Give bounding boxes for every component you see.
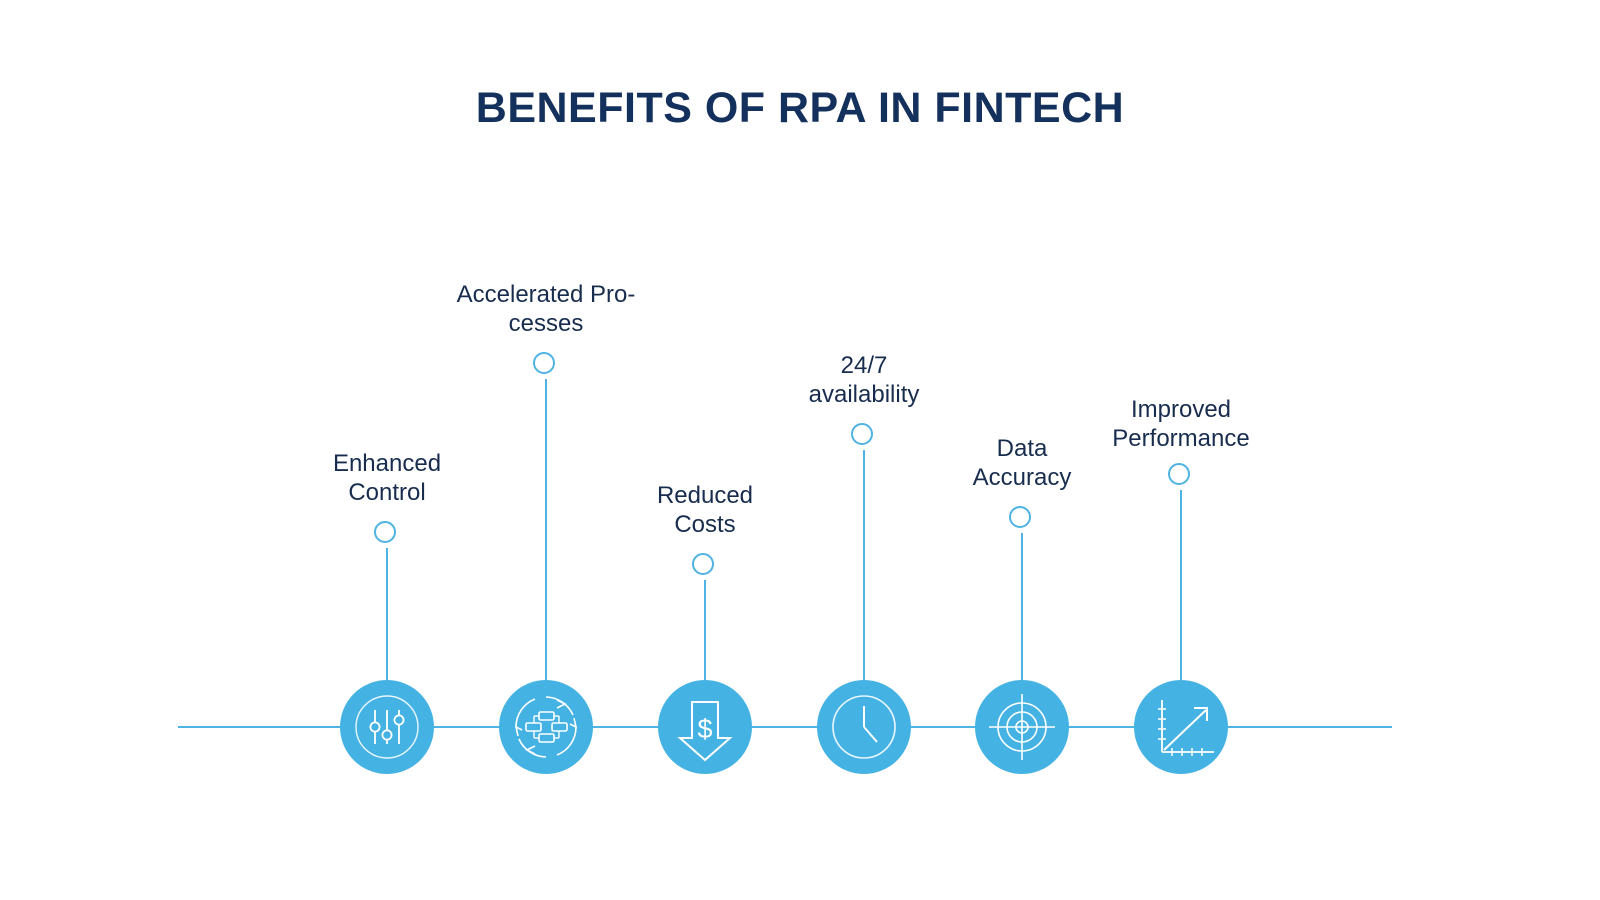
node-circle-availability[interactable]	[817, 680, 911, 774]
svg-text:$: $	[697, 714, 712, 744]
node-label-accelerated-processes: Accelerated Pro- cesses	[406, 280, 686, 339]
node-circle-accelerated-processes[interactable]	[499, 680, 593, 774]
growth-chart-icon	[1134, 680, 1228, 774]
node-circle-data-accuracy[interactable]	[975, 680, 1069, 774]
sliders-icon	[340, 680, 434, 774]
node-marker-accelerated-processes[interactable]	[533, 352, 555, 374]
node-stem-data-accuracy	[1021, 533, 1023, 682]
node-stem-reduced-costs	[704, 580, 706, 682]
node-circle-enhanced-control[interactable]	[340, 680, 434, 774]
node-circle-reduced-costs[interactable]: $	[658, 680, 752, 774]
clock-icon	[817, 680, 911, 774]
node-marker-data-accuracy[interactable]	[1009, 506, 1031, 528]
node-marker-availability[interactable]	[851, 423, 873, 445]
node-label-availability: 24/7 availability	[724, 351, 1004, 410]
benefits-timeline: Enhanced Control Accelerated Pro- cesses	[0, 0, 1600, 900]
node-marker-improved-performance[interactable]	[1168, 463, 1190, 485]
down-arrow-dollar-icon: $	[658, 680, 752, 774]
node-stem-enhanced-control	[386, 548, 388, 682]
node-marker-reduced-costs[interactable]	[692, 553, 714, 575]
node-stem-availability	[863, 450, 865, 682]
node-label-enhanced-control: Enhanced Control	[247, 449, 527, 508]
node-circle-improved-performance[interactable]	[1134, 680, 1228, 774]
node-stem-improved-performance	[1180, 490, 1182, 682]
node-stem-accelerated-processes	[545, 379, 547, 682]
node-label-reduced-costs: Reduced Costs	[565, 481, 845, 540]
process-workflow-icon	[499, 680, 593, 774]
node-marker-enhanced-control[interactable]	[374, 521, 396, 543]
node-label-improved-performance: Improved Performance	[1041, 395, 1321, 454]
target-crosshair-icon	[975, 680, 1069, 774]
